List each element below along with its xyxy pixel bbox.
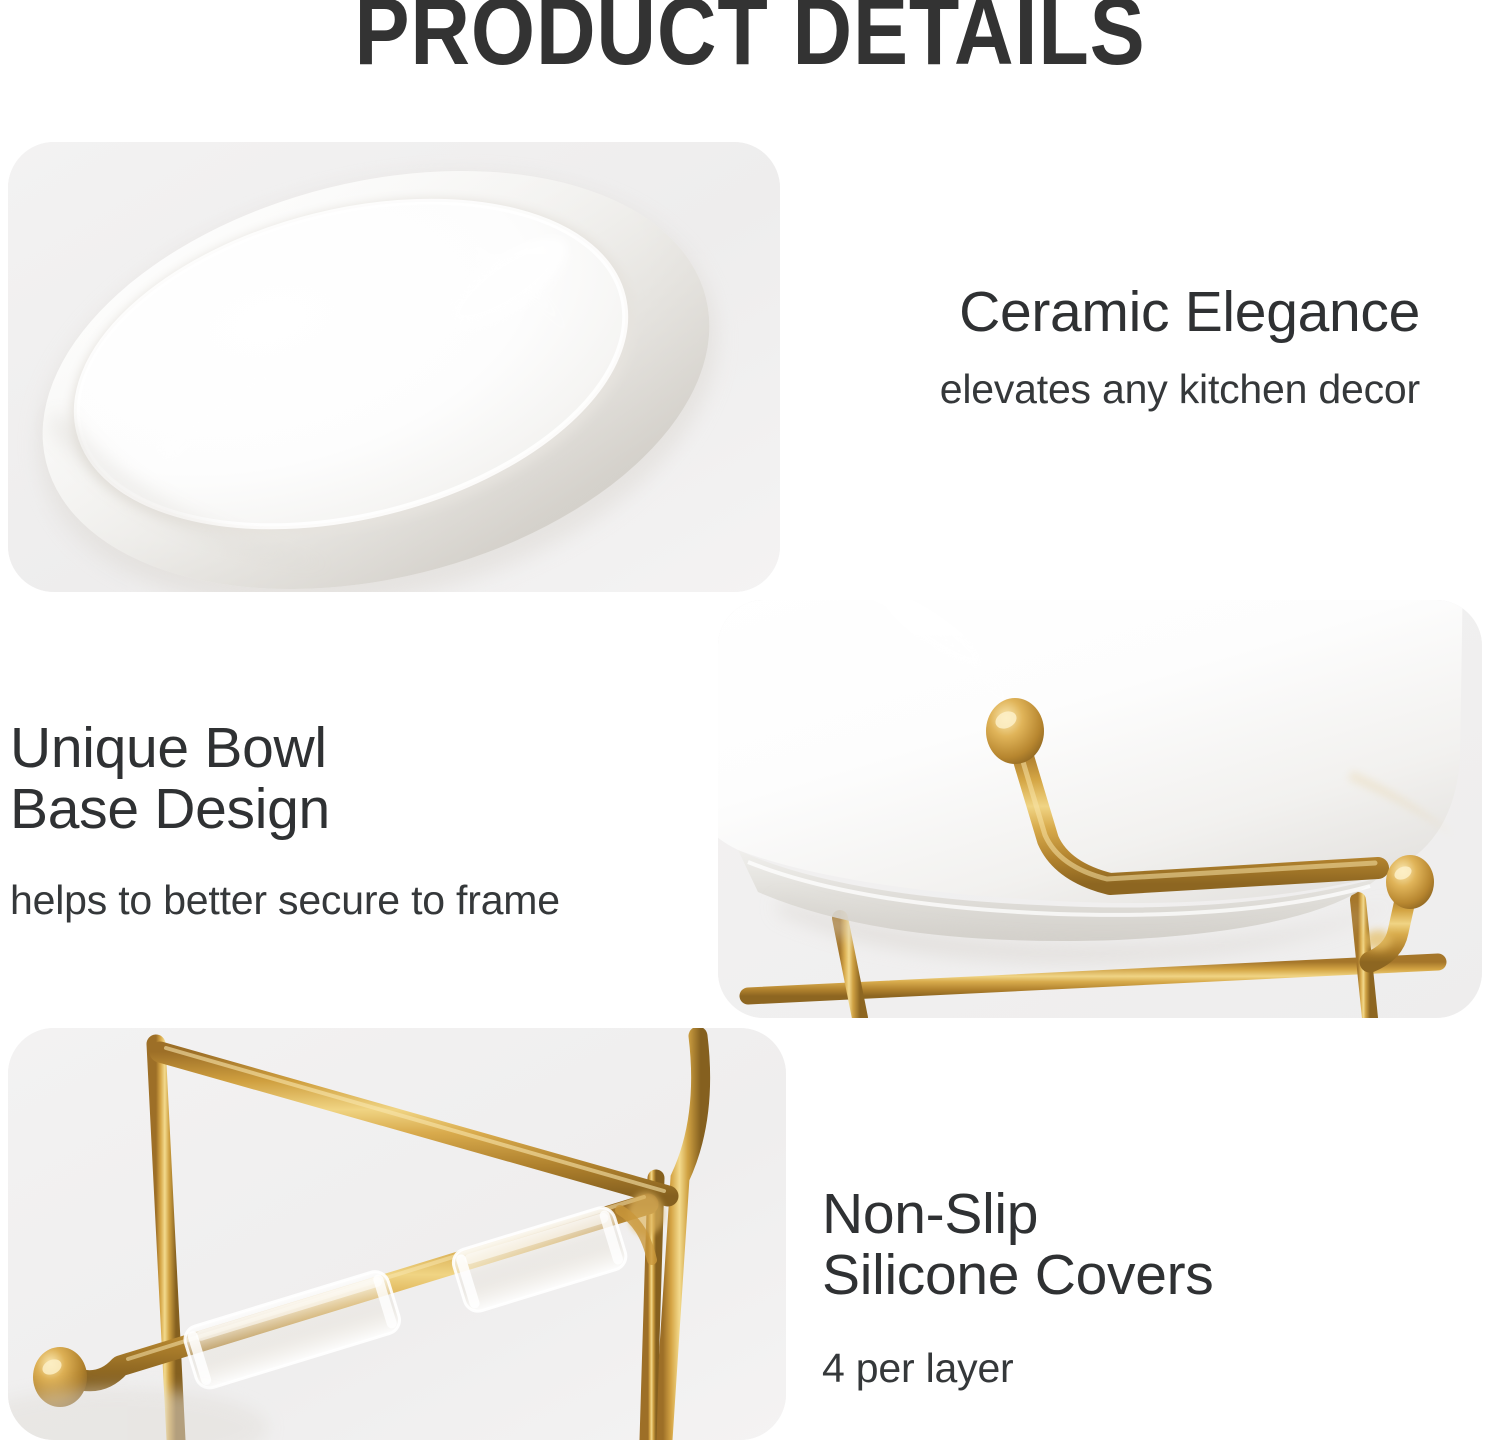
feature-subtext-ceramic-elegance: elevates any kitchen decor	[800, 365, 1420, 414]
feature-text-ceramic-elegance: Ceramic Elegance elevates any kitchen de…	[800, 282, 1420, 414]
silicone-covers-photo	[8, 1028, 786, 1440]
feature-heading-ceramic-elegance: Ceramic Elegance	[800, 282, 1420, 343]
ceramic-bowl-photo	[8, 142, 780, 592]
feature-heading-unique-bowl-base-design: Unique Bowl Base Design	[10, 718, 710, 840]
feature-text-non-slip-silicone-covers: Non-Slip Silicone Covers 4 per layer	[822, 1184, 1462, 1393]
gold-ball-finial-right	[1386, 855, 1434, 909]
page-title: PRODUCT DETAILS	[105, 0, 1395, 83]
image-panel-ceramic-elegance	[8, 142, 780, 592]
feature-heading-non-slip-silicone-covers: Non-Slip Silicone Covers	[822, 1184, 1462, 1306]
image-panel-unique-bowl-base-design	[718, 600, 1482, 1018]
gold-ball-finial-left	[986, 698, 1044, 764]
feature-text-unique-bowl-base-design: Unique Bowl Base Design helps to better …	[10, 718, 710, 925]
feature-subtext-non-slip-silicone-covers: 4 per layer	[822, 1344, 1462, 1393]
feature-subtext-unique-bowl-base-design: helps to better secure to frame	[10, 876, 710, 925]
bowl-base-photo	[718, 600, 1482, 1018]
image-panel-non-slip-silicone-covers	[8, 1028, 786, 1440]
